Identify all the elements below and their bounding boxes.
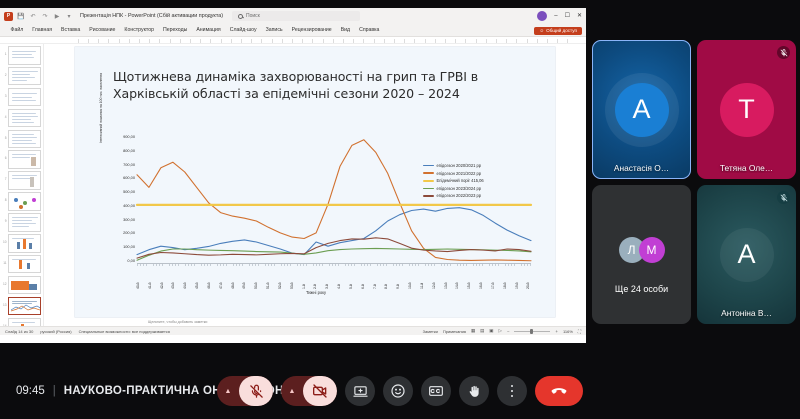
avatar: A [615, 83, 669, 137]
leave-call-button[interactable] [535, 376, 583, 406]
slide-thumbnail[interactable] [8, 213, 41, 232]
slide-thumbnail[interactable] [8, 46, 41, 65]
thumbnail-row: 1 [3, 46, 41, 65]
thumbnail-row: 3 [3, 88, 41, 107]
ribbon-tab-10[interactable]: Вид [336, 27, 354, 33]
legend-item-4: епідсезон 2022/2023 рр [423, 193, 539, 198]
zoom-out-icon[interactable]: − [507, 329, 510, 334]
minimize-icon[interactable]: – [554, 13, 557, 19]
powerpoint-editing-area: 1 2 3 4 5 6 7 8 9 10 11 12 13 14 15 Щоти… [0, 44, 586, 326]
thumbnail-row: 7 [3, 171, 41, 190]
thumbnail-number: 8 [3, 192, 7, 202]
x-tick-20: 7-й [374, 267, 378, 289]
x-tick-23: 10-й [409, 267, 413, 289]
thumbnail-number: 13 [3, 297, 7, 307]
x-tick-22: 9-й [397, 267, 401, 289]
participant-name: Антоніна В… [697, 308, 796, 318]
thumbnail-row: 13 [3, 297, 41, 316]
x-tick-5: 45-й [196, 267, 200, 289]
camera-off-button[interactable] [303, 376, 337, 406]
more-vertical-icon [511, 385, 514, 398]
window-controls: – ☐ ✕ [537, 11, 582, 21]
present-screen-button[interactable] [345, 376, 375, 406]
legend-label: епідсезон 2023/2024 рр [437, 186, 482, 191]
mic-off-icon [777, 191, 790, 204]
y-tick-1: 800,00 [123, 149, 135, 153]
slide-thumbnail[interactable] [8, 171, 41, 190]
x-tick-19: 6-й [362, 267, 366, 289]
thumbnail-row: 2 [3, 67, 41, 86]
x-tick-11: 51-й [267, 267, 271, 289]
x-tick-13: 53-й [291, 267, 295, 289]
share-button[interactable]: ☺ Общий доступ [534, 27, 582, 35]
y-tick-6: 300,00 [123, 218, 135, 222]
chart-x-axis [137, 263, 531, 266]
thumbnail-row: 12 [3, 276, 41, 295]
x-tick-28: 15-й [468, 267, 472, 289]
meeting-screen: P 💾 ↶ ↷ ▶ ▾ Презентація НПК - PowerPoint… [0, 0, 800, 419]
participant-tile-tetyana[interactable]: Т Тетяна Оле… [697, 40, 796, 179]
x-tick-18: 5-й [350, 267, 354, 289]
meeting-controls: ▲ ▲ [217, 376, 583, 406]
thumbnail-number: 4 [3, 109, 7, 119]
shared-screen-powerpoint[interactable]: P 💾 ↶ ↷ ▶ ▾ Презентація НПК - PowerPoint… [0, 8, 586, 343]
present-icon[interactable]: ▶ [53, 12, 61, 20]
y-tick-2: 700,00 [123, 163, 135, 167]
undo-icon[interactable]: ↶ [29, 12, 37, 20]
thumbnail-number: 7 [3, 171, 7, 181]
x-tick-16: 3-й [326, 267, 330, 289]
more-options-button[interactable] [497, 376, 527, 406]
slide-thumbnail[interactable] [8, 130, 41, 149]
x-tick-29: 16-й [480, 267, 484, 289]
powerpoint-window-title: Презентація НПК - PowerPoint (Сбій актив… [80, 13, 223, 19]
legend-swatch [423, 165, 434, 167]
x-tick-8: 48-й [232, 267, 236, 289]
slide-thumbnail[interactable] [8, 67, 41, 86]
participant-name: Анастасія О… [592, 163, 691, 173]
comments-button[interactable]: Примечания [443, 329, 466, 334]
thumbnail-row: 14 [3, 318, 41, 326]
meeting-separator: | [53, 385, 56, 397]
maximize-icon[interactable]: ☐ [565, 13, 570, 19]
ruler-ticks [78, 39, 572, 43]
x-tick-12: 52-й [279, 267, 283, 289]
customize-toolbar-icon[interactable]: ▾ [65, 12, 73, 20]
x-tick-31: 18-й [504, 267, 508, 289]
status-bar-right: Заметки Примечания ▦ ▤ ▣ ▷ − + 116% ⛶ [423, 328, 581, 334]
search-placeholder: Поиск [246, 13, 260, 19]
phone-hangup-icon [549, 381, 569, 401]
avatar: Т [720, 83, 774, 137]
chart-series-line [137, 208, 531, 255]
legend-label: епідсезон 2021/2022 рр [437, 171, 482, 176]
overflow-label: Ще 24 особи [592, 284, 691, 294]
legend-item-3: епідсезон 2023/2024 рр [423, 186, 539, 191]
fit-to-window-icon[interactable]: ⛶ [578, 329, 581, 334]
participant-tiles: A Анастасія О… Т Тетяна Оле… Л М Ще 24 о… [592, 40, 796, 324]
thumbnail-number: 11 [3, 255, 7, 265]
ribbon-tab-0[interactable]: Файл [6, 27, 28, 33]
x-tick-10: 50-й [255, 267, 259, 289]
slide-thumbnail[interactable] [8, 276, 41, 295]
y-tick-8: 100,00 [123, 245, 135, 249]
save-icon[interactable]: 💾 [17, 12, 25, 20]
slide-canvas-area[interactable]: Щотижнева динаміка захворюваності на гри… [44, 44, 586, 326]
y-tick-0: 900,00 [123, 135, 135, 139]
chart-legend: епідсезон 2020/2021 ррепідсезон 2021/202… [423, 163, 539, 198]
slide-thumbnail-selected[interactable] [8, 297, 41, 316]
captions-button[interactable] [421, 376, 451, 406]
microphone-options-caret-icon[interactable]: ▲ [217, 376, 239, 406]
thumbnail-row: 8 [3, 192, 41, 211]
x-tick-17: 4-й [338, 267, 342, 289]
overflow-avatars: Л М [619, 237, 665, 263]
y-tick-5: 400,00 [123, 204, 135, 208]
slide-thumbnail[interactable] [8, 109, 41, 128]
legend-item-1: епідсезон 2021/2022 рр [423, 171, 539, 176]
y-tick-3: 600,00 [123, 176, 135, 180]
language-indicator[interactable]: русский (Россия) [40, 329, 71, 334]
x-tick-2: 42-й [161, 267, 165, 289]
y-tick-9: 0,00 [127, 259, 135, 263]
thumbnail-row: 11 [3, 255, 41, 274]
slide-sorter-icon[interactable]: ▤ [480, 328, 484, 334]
participant-tile-anastasia[interactable]: A Анастасія О… [592, 40, 691, 179]
x-tick-21: 8-й [385, 267, 389, 289]
x-tick-1: 41-й [149, 267, 153, 289]
x-tick-7: 47-й [220, 267, 224, 289]
zoom-in-icon[interactable]: + [555, 329, 558, 334]
thumbnail-row: 4 [3, 109, 41, 128]
legend-swatch [423, 188, 434, 190]
normal-view-icon[interactable]: ▦ [471, 328, 475, 334]
reading-view-icon[interactable]: ▣ [489, 328, 493, 334]
camera-control[interactable]: ▲ [281, 376, 337, 406]
ribbon-tab-4[interactable]: Конструктор [120, 27, 159, 33]
thumbnail-number: 10 [3, 234, 7, 244]
x-tick-24: 11-й [421, 267, 425, 289]
powerpoint-search-box[interactable]: Поиск [232, 11, 360, 21]
ribbon-tab-11[interactable]: Справка [355, 27, 384, 33]
x-tick-32: 19-й [516, 267, 520, 289]
ribbon-tab-9[interactable]: Рецензирование [287, 27, 336, 33]
meeting-bottom-bar: 09:45 | НАУКОВО-ПРАКТИЧНА ОНЛАЙН КОНФЕРЕ… [0, 363, 800, 419]
legend-swatch [423, 180, 434, 182]
slide-thumbnail[interactable] [8, 150, 41, 169]
close-icon[interactable]: ✕ [577, 13, 582, 19]
slide-counter: Слайд 14 из 30 [5, 329, 33, 334]
microphone-off-button[interactable] [239, 376, 273, 406]
ribbon-tab-2[interactable]: Вставка [57, 27, 85, 33]
x-tick-3: 43-й [172, 267, 176, 289]
powerpoint-logo-icon: P [4, 12, 13, 21]
chart-y-axis-ticks: 900,00800,00700,00600,00500,00400,00300,… [109, 135, 135, 263]
share-button-label: Общий доступ [546, 28, 577, 33]
ribbon-tab-5[interactable]: Переходы [159, 27, 192, 33]
y-tick-4: 500,00 [123, 190, 135, 194]
x-tick-14: 1-й [303, 267, 307, 289]
meeting-time: 09:45 [16, 385, 45, 397]
x-tick-26: 13-й [445, 267, 449, 289]
x-tick-27: 14-й [456, 267, 460, 289]
x-tick-25: 12-й [433, 267, 437, 289]
participant-name: Тетяна Оле… [697, 163, 796, 173]
ribbon-tab-8[interactable]: Запись [261, 27, 287, 33]
legend-swatch [423, 172, 434, 174]
x-tick-4: 44-й [184, 267, 188, 289]
reactions-button[interactable] [383, 376, 413, 406]
thumbnail-number: 6 [3, 150, 7, 160]
legend-item-2: Епідемічний поріг 415,06 [423, 178, 539, 183]
chart[interactable]: Інтенсивний показник на 100 тис. населен… [101, 135, 531, 305]
raise-hand-button[interactable] [459, 376, 489, 406]
chart-x-axis-ticks: 40-й41-й42-й43-й44-й45-й46-й47-й48-й49-й… [137, 267, 531, 289]
current-slide[interactable]: Щотижнева динаміка захворюваності на гри… [75, 47, 555, 317]
powerpoint-title-bar: P 💾 ↶ ↷ ▶ ▾ Презентація НПК - PowerPoint… [0, 8, 586, 24]
redo-icon[interactable]: ↷ [41, 12, 49, 20]
slide-thumbnail[interactable] [8, 192, 41, 211]
chart-plot-area [137, 137, 531, 263]
thumbnail-number: 1 [3, 46, 7, 56]
thumbnail-row: 5 [3, 130, 41, 149]
camera-options-caret-icon[interactable]: ▲ [281, 376, 303, 406]
avatar: A [720, 228, 774, 282]
powerpoint-status-bar: Слайд 14 из 30 русский (Россия) Специаль… [0, 326, 586, 335]
thumbnail-row: 6 [3, 150, 41, 169]
x-tick-15: 2-й [314, 267, 318, 289]
slide-thumbnail-panel[interactable]: 1 2 3 4 5 6 7 8 9 10 11 12 13 14 15 [0, 44, 44, 326]
chart-series-line [137, 140, 531, 261]
chart-y-axis-title: Інтенсивний показник на 100 тис. населен… [99, 65, 103, 151]
ribbon-tab-3[interactable]: Рисование [85, 27, 120, 33]
slide-thumbnail[interactable] [8, 234, 41, 253]
legend-label: Епідемічний поріг 415,06 [437, 178, 484, 183]
thumbnail-row: 9 [3, 213, 41, 232]
participant-tile-antonina[interactable]: A Антоніна В… [697, 185, 796, 324]
legend-item-0: епідсезон 2020/2021 рр [423, 163, 539, 168]
account-avatar[interactable] [537, 11, 547, 21]
y-tick-7: 200,00 [123, 231, 135, 235]
chart-x-axis-title: Тижні року [101, 290, 531, 295]
ribbon-tab-7[interactable]: Слайд-шоу [225, 27, 261, 33]
x-tick-6: 46-й [208, 267, 212, 289]
thumbnail-number: 14 [3, 318, 7, 326]
slide-title[interactable]: Щотижнева динаміка захворюваності на гри… [113, 69, 505, 102]
thumbnail-number: 3 [3, 88, 7, 98]
mic-off-icon [777, 46, 790, 59]
powerpoint-ribbon-tabs: Файл Главная Вставка Рисование Конструкт… [0, 24, 586, 37]
thumbnail-row: 10 [3, 234, 41, 253]
ribbon-tab-1[interactable]: Главная [28, 27, 57, 33]
thumbnail-number: 5 [3, 130, 7, 140]
search-icon [238, 14, 243, 19]
share-icon: ☺ [539, 28, 544, 33]
slide-thumbnail[interactable] [8, 255, 41, 274]
zoom-slider-knob[interactable] [530, 329, 532, 334]
x-tick-30: 17-й [492, 267, 496, 289]
notes-button[interactable]: Заметки [423, 329, 438, 334]
x-tick-9: 49-й [243, 267, 247, 289]
x-tick-33: 20-й [527, 267, 531, 289]
legend-swatch [423, 195, 434, 197]
thumbnail-number: 12 [3, 276, 7, 286]
legend-label: епідсезон 2020/2021 рр [437, 163, 482, 168]
slide-thumbnail[interactable] [8, 88, 41, 107]
horizontal-ruler [0, 37, 586, 44]
avatar: М [639, 237, 665, 263]
slideshow-icon[interactable]: ▷ [498, 328, 501, 334]
chart-lines [137, 137, 531, 263]
slide-thumbnail[interactable] [8, 318, 41, 326]
participant-tile-overflow[interactable]: Л М Ще 24 особи [592, 185, 691, 324]
zoom-level[interactable]: 116% [563, 329, 573, 334]
x-tick-0: 40-й [137, 267, 141, 289]
thumbnail-number: 9 [3, 213, 7, 223]
legend-label: епідсезон 2022/2023 рр [437, 193, 482, 198]
thumbnail-number: 2 [3, 67, 7, 77]
accessibility-status[interactable]: Специальные возможности: все поддерживае… [79, 329, 170, 334]
notes-placeholder[interactable]: Щелкните, чтобы добавить заметки [148, 320, 207, 324]
ribbon-tab-6[interactable]: Анимация [192, 27, 225, 33]
zoom-slider[interactable] [514, 331, 550, 332]
microphone-control[interactable]: ▲ [217, 376, 273, 406]
